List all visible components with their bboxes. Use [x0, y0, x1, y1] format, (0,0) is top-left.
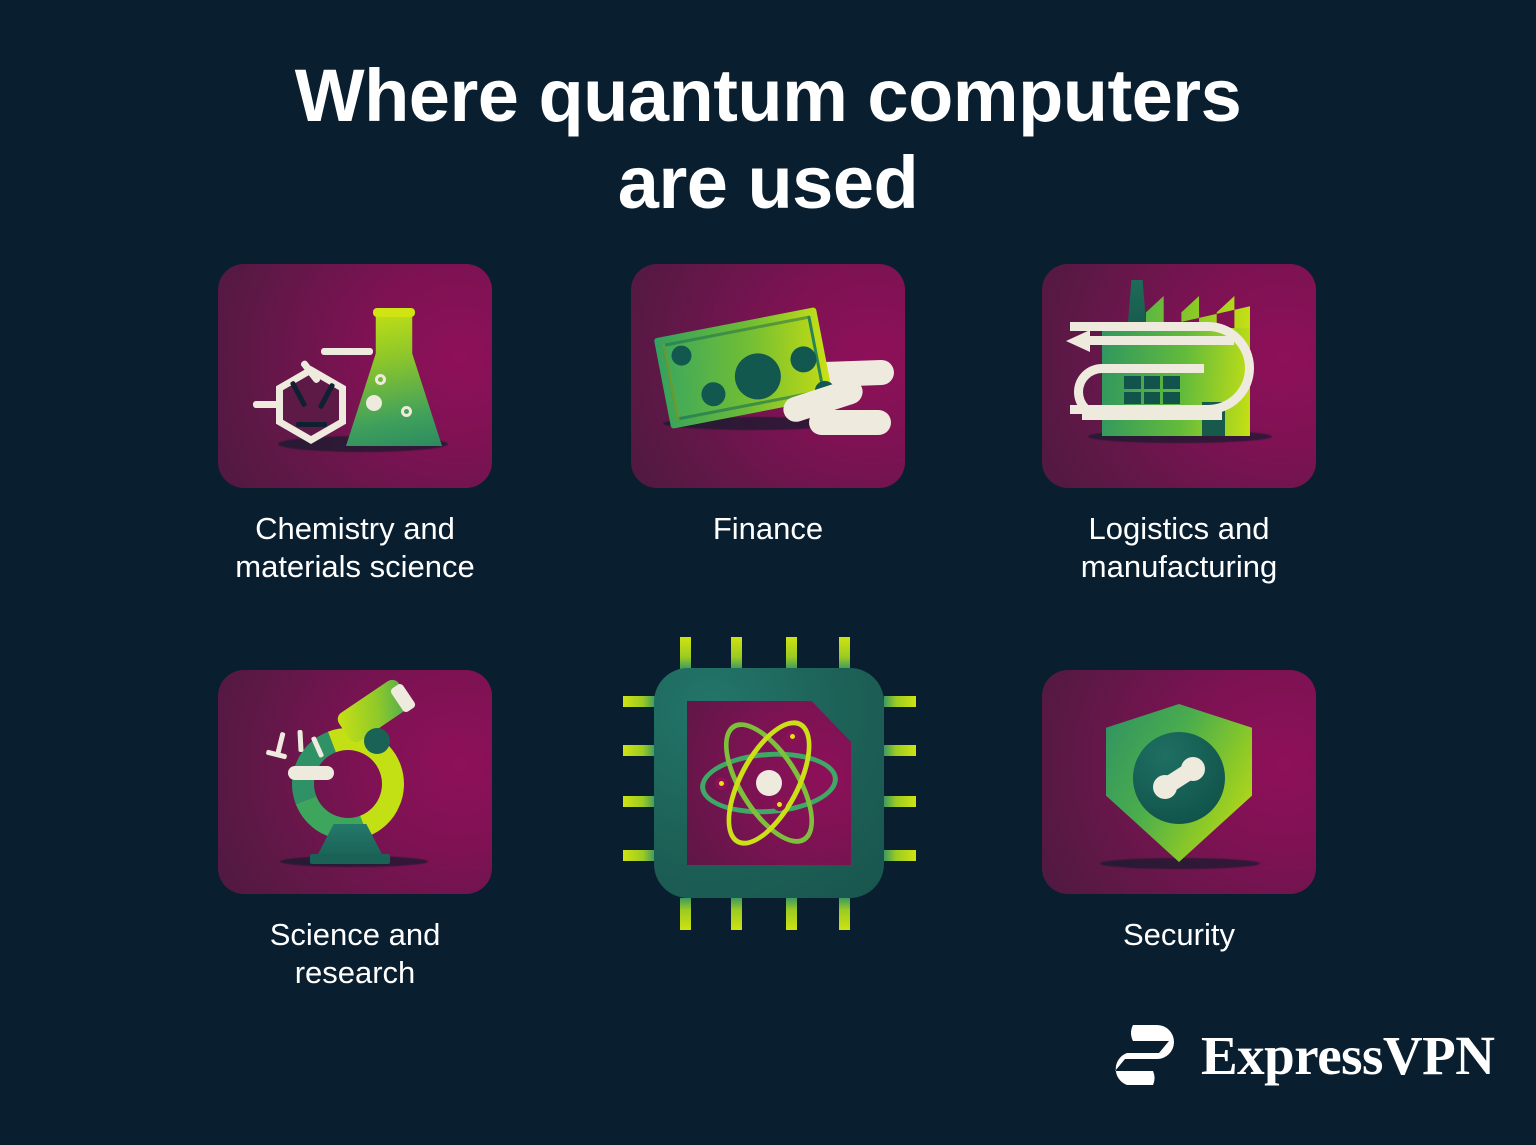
card-label-line-2: manufacturing: [1042, 548, 1316, 586]
supply-loop-bottom-bar: [1082, 411, 1222, 420]
microscope-foot: [310, 854, 390, 864]
flask-bubble-solid: [366, 395, 382, 411]
card-label-science: Science and research: [218, 916, 492, 992]
atom-electron: [773, 798, 786, 811]
card-label-line-1: Science and: [218, 916, 492, 954]
chip-pin-right: [884, 796, 916, 807]
card-security: Security: [1042, 670, 1316, 954]
chip-pin-top: [786, 637, 797, 669]
expressvpn-logo[interactable]: ExpressVPN: [1107, 1016, 1447, 1094]
spark-line: [275, 732, 285, 755]
spark-line: [297, 730, 303, 752]
icon-tile-logistics: [1042, 264, 1316, 488]
card-label-line-2: materials science: [218, 548, 492, 586]
icon-tile-chemistry: [218, 264, 492, 488]
quantum-chip-atom-icon: [614, 628, 924, 943]
card-label-line-2: research: [218, 954, 492, 992]
card-label-security: Security: [1042, 916, 1316, 954]
card-label-line-1: Logistics and: [1042, 510, 1316, 548]
icon-tile-finance: [631, 264, 905, 488]
flask-lip: [373, 308, 415, 317]
chip-pin-left: [623, 796, 655, 807]
molecule-double-bond-c: [296, 422, 327, 427]
banknote-seal-right: [788, 344, 818, 374]
microscope-joint: [364, 728, 390, 754]
atom-icon: [694, 708, 844, 858]
chip-pin-bottom: [680, 898, 691, 930]
page-title: Where quantum computers are used: [0, 52, 1536, 227]
atom-electron: [715, 777, 728, 790]
card-label-line-1: Chemistry and: [218, 510, 492, 548]
chip-pin-left: [623, 745, 655, 756]
page-title-line-2: are used: [0, 139, 1536, 226]
icon-tile-science: [218, 670, 492, 894]
card-science: Science and research: [218, 670, 492, 992]
card-chemistry: Chemistry and materials science: [218, 264, 492, 586]
flask-icon: [346, 310, 442, 446]
card-label-line-1: Security: [1042, 916, 1316, 954]
flask-bubble-ring: [375, 374, 386, 385]
chip-pin-top: [731, 637, 742, 669]
banknote-seal-left: [699, 380, 727, 408]
card-label-logistics: Logistics and manufacturing: [1042, 510, 1316, 586]
chip-pin-right: [884, 696, 916, 707]
coin-bar: [809, 410, 891, 435]
expressvpn-e-mark-icon: [1150, 756, 1208, 800]
banknote-portrait: [731, 349, 785, 403]
loop-arrow-shaft: [1086, 336, 1234, 345]
card-finance: Finance: [631, 264, 905, 548]
chip-pin-bottom: [786, 898, 797, 930]
banknote-corner: [670, 344, 693, 367]
card-label-chemistry: Chemistry and materials science: [218, 510, 492, 586]
brand-name: ExpressVPN: [1201, 1028, 1494, 1083]
infographic-canvas: Where quantum computers are used Chemist…: [0, 0, 1536, 1145]
microscope-slide-stage: [288, 766, 334, 780]
chip-pin-top: [839, 637, 850, 669]
chip-pin-top: [680, 637, 691, 669]
card-label-finance: Finance: [631, 510, 905, 548]
icon-tile-security: [1042, 670, 1316, 894]
chip-pin-right: [884, 850, 916, 861]
card-label-line-1: Finance: [631, 510, 905, 548]
card-logistics: Logistics and manufacturing: [1042, 264, 1316, 586]
atom-nucleus: [756, 770, 782, 796]
chip-pin-left: [623, 850, 655, 861]
expressvpn-e-mark-icon: [1107, 1023, 1179, 1087]
chip-pin-bottom: [839, 898, 850, 930]
molecule-bond-top: [321, 348, 373, 355]
chip-pin-bottom: [731, 898, 742, 930]
chip-pin-right: [884, 745, 916, 756]
flask-bubble-ring: [401, 406, 412, 417]
chip-pin-left: [623, 696, 655, 707]
page-title-line-1: Where quantum computers: [0, 52, 1536, 139]
atom-electron: [786, 730, 799, 743]
molecule-bond-left: [253, 401, 279, 408]
